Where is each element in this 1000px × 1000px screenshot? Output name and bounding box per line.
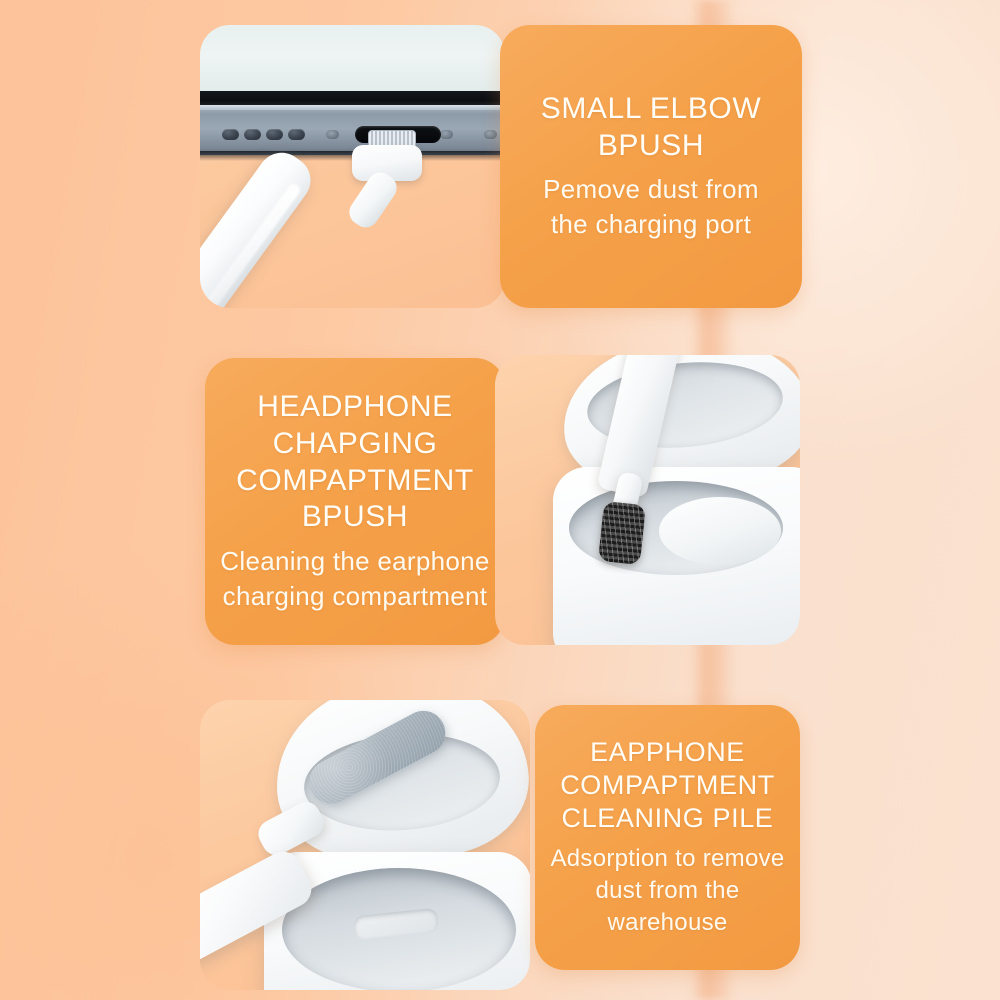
phone-screw-hole: [326, 130, 339, 139]
section-1-heading: SMALL ELBOW BPUSH: [541, 91, 762, 164]
section-1-description-line-2: the charging port: [543, 207, 759, 242]
section-3-photo: [200, 700, 530, 990]
section-3-heading-line-3: CLEANING PILE: [560, 802, 775, 835]
section-3-description-line-3: warehouse: [550, 907, 784, 939]
infographic-canvas: SMALL ELBOW BPUSH Pemove dust from the c…: [0, 0, 1000, 1000]
speaker-grille-hole: [244, 129, 261, 140]
section-2-heading: HEADPHONE CHAPGING COMPAPTMENT BPUSH: [236, 389, 474, 535]
section-1-description-line-1: Pemove dust from: [543, 172, 759, 207]
section-1-description: Pemove dust from the charging port: [543, 172, 759, 242]
section-2-heading-line-2: CHAPGING: [236, 426, 474, 463]
section-3-heading: EAPPHONE COMPAPTMENT CLEANING PILE: [560, 736, 775, 835]
section-3-heading-line-2: COMPAPTMENT: [560, 769, 775, 802]
section-1-heading-line-2: BPUSH: [541, 128, 762, 165]
section-3-text-card: EAPPHONE COMPAPTMENT CLEANING PILE Adsor…: [535, 705, 800, 970]
section-3-description-line-1: Adsorption to remove: [550, 843, 784, 875]
section-2-heading-line-3: COMPAPTMENT: [236, 463, 474, 500]
phone-screw-hole: [484, 130, 497, 139]
section-1-photo: [200, 25, 505, 308]
section-2-text-card: HEADPHONE CHAPGING COMPAPTMENT BPUSH Cle…: [205, 358, 505, 645]
speaker-grille-hole: [288, 129, 305, 140]
phone-frame-highlight: [200, 105, 505, 110]
phone-screw-hole: [440, 130, 453, 139]
earphone-case-bud-bump: [659, 497, 781, 565]
section-2-description: Cleaning the earphone charging compartme…: [220, 544, 489, 614]
section-3-description-line-2: dust from the: [550, 875, 784, 907]
section-2-heading-line-4: BPUSH: [236, 499, 474, 536]
speaker-grille-hole: [266, 129, 283, 140]
section-2-description-line-1: Cleaning the earphone: [220, 544, 489, 579]
section-3-description: Adsorption to remove dust from the wareh…: [550, 843, 784, 939]
speaker-grille-hole: [222, 129, 239, 140]
phone-screen-glass: [200, 25, 505, 93]
section-2-heading-line-1: HEADPHONE: [236, 389, 474, 426]
section-2-photo: [495, 355, 800, 645]
section-1-text-card: SMALL ELBOW BPUSH Pemove dust from the c…: [500, 25, 802, 308]
brush-bristles: [598, 501, 646, 565]
section-1-heading-line-1: SMALL ELBOW: [541, 91, 762, 128]
section-3-heading-line-1: EAPPHONE: [560, 736, 775, 769]
section-2-description-line-2: charging compartment: [220, 579, 489, 614]
